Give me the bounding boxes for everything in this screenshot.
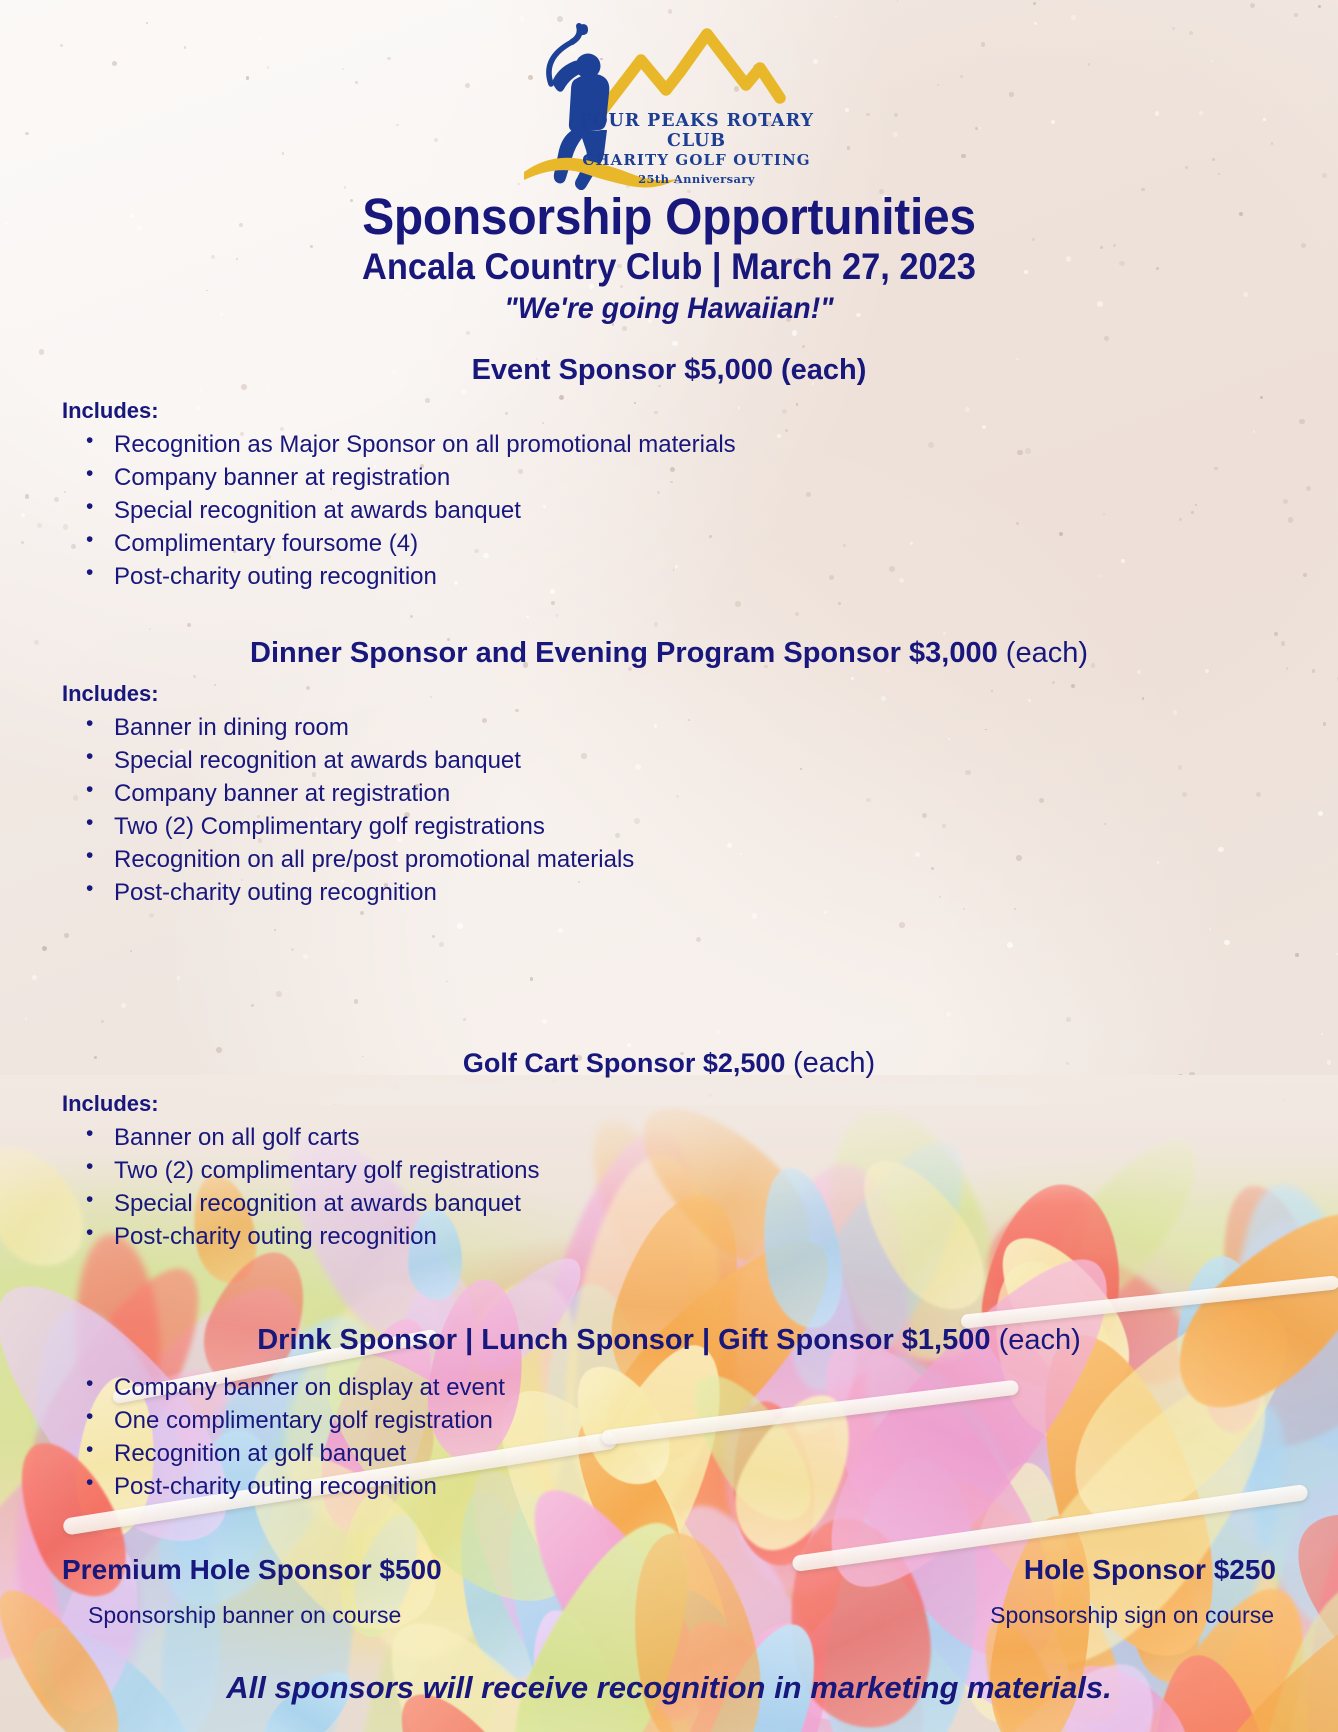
logo-area: FOUR PEAKS ROTARY CLUB CHARITY GOLF OUTI…: [0, 12, 1338, 190]
list-item: Recognition at golf banquet: [78, 1437, 1338, 1470]
logo-wordmark: FOUR PEAKS ROTARY CLUB CHARITY GOLF OUTI…: [549, 112, 844, 186]
poster-page: FOUR PEAKS ROTARY CLUB CHARITY GOLF OUTI…: [0, 0, 1338, 1732]
hole-sponsor-block: Hole Sponsor $250 Sponsorship sign on co…: [806, 1555, 1276, 1629]
list-item: Two (2) Complimentary golf registrations: [78, 810, 1338, 843]
footer-note: All sponsors will receive recognition in…: [0, 1670, 1338, 1706]
tier-event-sponsor: Event Sponsor $5,000 (each) Includes: Re…: [0, 355, 1338, 593]
list-item: Banner in dining room: [78, 711, 1338, 744]
four-peaks-rotary-golf-logo-icon: FOUR PEAKS ROTARY CLUB CHARITY GOLF OUTI…: [494, 12, 844, 190]
logo-line-2: CHARITY GOLF OUTING: [549, 151, 844, 170]
list-item: Post-charity outing recognition: [78, 876, 1338, 909]
list-item: Special recognition at awards banquet: [78, 494, 1338, 527]
tier-heading: Golf Cart Sponsor $2,500 (each): [0, 1048, 1338, 1080]
tier-heading: Dinner Sponsor and Evening Program Spons…: [0, 638, 1338, 670]
tier-heading: Event Sponsor $5,000 (each): [0, 355, 1338, 387]
benefit-list: Banner on all golf carts Two (2) complim…: [78, 1121, 1338, 1253]
tier-dinner-evening-program-sponsor: Dinner Sponsor and Evening Program Spons…: [0, 638, 1338, 909]
includes-label: Includes:: [62, 1091, 1338, 1117]
list-item: Recognition on all pre/post promotional …: [78, 843, 1338, 876]
list-item: Banner on all golf carts: [78, 1121, 1338, 1154]
list-item: Complimentary foursome (4): [78, 527, 1338, 560]
hole-sponsor-columns: Premium Hole Sponsor $500 Sponsorship ba…: [0, 1555, 1338, 1629]
list-item: Special recognition at awards banquet: [78, 744, 1338, 777]
premium-hole-sponsor-heading: Premium Hole Sponsor $500: [62, 1555, 532, 1586]
includes-label: Includes:: [62, 398, 1338, 424]
page-title: Sponsorship Opportunities: [40, 190, 1298, 244]
tier-heading-bold: Event Sponsor $5,000 (each): [472, 354, 867, 386]
event-tagline: "We're going Hawaiian!": [33, 292, 1304, 326]
header-block: Sponsorship Opportunities Ancala Country…: [0, 190, 1338, 326]
premium-hole-sponsor-block: Premium Hole Sponsor $500 Sponsorship ba…: [62, 1555, 532, 1629]
list-item: Recognition as Major Sponsor on all prom…: [78, 428, 1338, 461]
list-item: Company banner on display at event: [78, 1371, 1338, 1404]
tier-heading-bold: Golf Cart Sponsor $2,500: [463, 1048, 793, 1078]
tier-golf-cart-sponsor: Golf Cart Sponsor $2,500 (each) Includes…: [0, 1048, 1338, 1253]
list-item: Company banner at registration: [78, 777, 1338, 810]
list-item: Post-charity outing recognition: [78, 1470, 1338, 1503]
tier-heading-normal: (each): [1006, 637, 1088, 669]
tier-heading-normal: (each): [793, 1047, 875, 1079]
event-venue-date: Ancala Country Club | March 27, 2023: [47, 246, 1291, 287]
includes-label: Includes:: [62, 681, 1338, 707]
logo-line-1: FOUR PEAKS ROTARY CLUB: [549, 112, 844, 151]
tier-drink-lunch-gift-sponsor: Drink Sponsor | Lunch Sponsor | Gift Spo…: [0, 1325, 1338, 1503]
hole-sponsor-detail: Sponsorship sign on course: [806, 1602, 1276, 1629]
benefit-list: Banner in dining room Special recognitio…: [78, 711, 1338, 909]
logo-line-3: 25th Anniversary: [549, 172, 844, 186]
list-item: Post-charity outing recognition: [78, 560, 1338, 593]
benefit-list: Company banner on display at event One c…: [78, 1371, 1338, 1503]
list-item: Post-charity outing recognition: [78, 1220, 1338, 1253]
hole-sponsor-heading: Hole Sponsor $250: [806, 1555, 1276, 1586]
list-item: Two (2) complimentary golf registrations: [78, 1154, 1338, 1187]
tier-heading-bold: Dinner Sponsor and Evening Program Spons…: [250, 637, 1006, 669]
tier-heading: Drink Sponsor | Lunch Sponsor | Gift Spo…: [0, 1325, 1338, 1357]
tier-heading-normal: (each): [999, 1324, 1081, 1356]
list-item: Company banner at registration: [78, 461, 1338, 494]
list-item: Special recognition at awards banquet: [78, 1187, 1338, 1220]
benefit-list: Recognition as Major Sponsor on all prom…: [78, 428, 1338, 593]
list-item: One complimentary golf registration: [78, 1404, 1338, 1437]
premium-hole-sponsor-detail: Sponsorship banner on course: [62, 1602, 532, 1629]
tier-heading-bold: Drink Sponsor | Lunch Sponsor | Gift Spo…: [257, 1324, 998, 1356]
